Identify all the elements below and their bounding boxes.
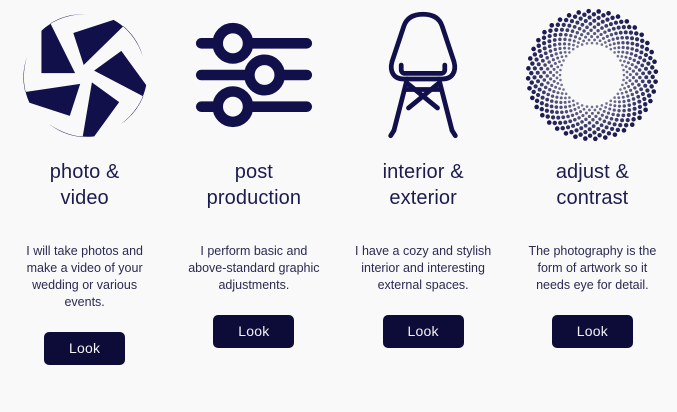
look-button[interactable]: Look <box>213 315 294 348</box>
card-title: post production <box>207 159 301 211</box>
look-button[interactable]: Look <box>44 332 125 365</box>
service-card-interior-exterior: interior & exterior I have a cozy and st… <box>339 0 508 412</box>
card-description: I have a cozy and stylish interior and i… <box>350 243 496 294</box>
card-description: I will take photos and make a video of y… <box>12 243 158 311</box>
service-card-photo-video: photo & video I will take photos and mak… <box>0 0 169 412</box>
service-card-adjust-contrast: adjust & contrast The photography is the… <box>508 0 677 412</box>
camera-shutter-icon <box>8 0 161 150</box>
card-title: interior & exterior <box>383 159 464 211</box>
card-description: I perform basic and above-standard graph… <box>181 243 327 294</box>
card-description: The photography is the form of artwork s… <box>519 243 665 294</box>
services-grid: photo & video I will take photos and mak… <box>0 0 677 412</box>
look-button[interactable]: Look <box>383 315 464 348</box>
look-button[interactable]: Look <box>552 315 633 348</box>
chair-icon <box>347 0 500 150</box>
radial-dots-spiral-icon <box>516 0 669 150</box>
card-title: adjust & contrast <box>556 159 629 211</box>
sliders-adjust-icon <box>177 0 330 150</box>
card-title: photo & video <box>50 159 120 211</box>
service-card-post-production: post production I perform basic and abov… <box>169 0 338 412</box>
